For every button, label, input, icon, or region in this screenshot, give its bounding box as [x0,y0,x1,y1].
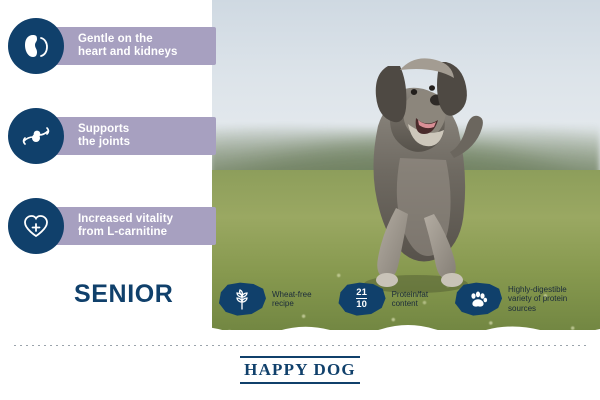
feature-joints-line1: Supports [78,123,129,135]
badge-wheat-free-line1: Wheat-free [272,290,312,299]
badge-blob: 21 10 [338,282,386,316]
feature-kidney-line2: heart and kidneys [78,46,177,58]
brand-logo: HAPPY DOG [0,356,600,384]
feature-kidney-text: Gentle on the heart and kidneys [78,33,177,60]
dotted-divider [14,345,586,346]
feature-joints: Supports the joints [8,108,130,164]
badge-protein-sources-line1: Highly-digestible [508,285,567,294]
joint-bone-icon [8,108,64,164]
ratio-denominator: 10 [356,298,367,310]
feature-vitality-text: Increased vitality from L-carnitine [78,213,173,240]
product-banner: Gentle on the heart and kidneys Supports… [0,0,600,400]
paw-icon [466,287,490,311]
ratio-numerator: 21 [356,288,367,298]
wheat-icon [230,287,254,311]
badge-protein-sources-text: Highly-digestible variety of protein sou… [508,285,590,314]
feature-joints-text: Supports the joints [78,123,130,150]
badge-wheat-free-line2: recipe [272,299,294,308]
feature-joints-line2: the joints [78,136,130,148]
feature-kidney-line1: Gentle on the [78,33,153,45]
life-stage-label: SENIOR [74,280,173,309]
brand-name: HAPPY DOG [242,360,358,380]
logo-rule-top [240,356,360,358]
kidney-icon [8,18,64,74]
badge-protein-sources: Highly-digestible variety of protein sou… [454,282,590,316]
badge-protein-fat-text: Protein/fat content [392,290,428,309]
badge-wheat-free-text: Wheat-free recipe [272,290,312,309]
feature-vitality: Increased vitality from L-carnitine [8,198,173,254]
badge-wheat-free: Wheat-free recipe [218,282,312,316]
feature-vitality-line1: Increased vitality [78,213,173,225]
badge-protein-sources-line2: variety of protein sources [508,294,567,313]
feature-vitality-line2: from L-carnitine [78,226,167,238]
features-panel: Gentle on the heart and kidneys Supports… [0,0,212,340]
feature-kidney: Gentle on the heart and kidneys [8,18,177,74]
protein-fat-ratio: 21 10 [356,288,367,310]
badge-protein-fat-line1: Protein/fat [392,290,428,299]
badge-protein-fat-line2: content [392,299,418,308]
dog-illustration [330,8,500,298]
badge-blob [218,282,266,316]
badge-protein-fat: 21 10 Protein/fat content [338,282,428,316]
heart-plus-icon [8,198,64,254]
logo-rule-bottom [240,382,360,384]
badge-blob [454,282,502,316]
